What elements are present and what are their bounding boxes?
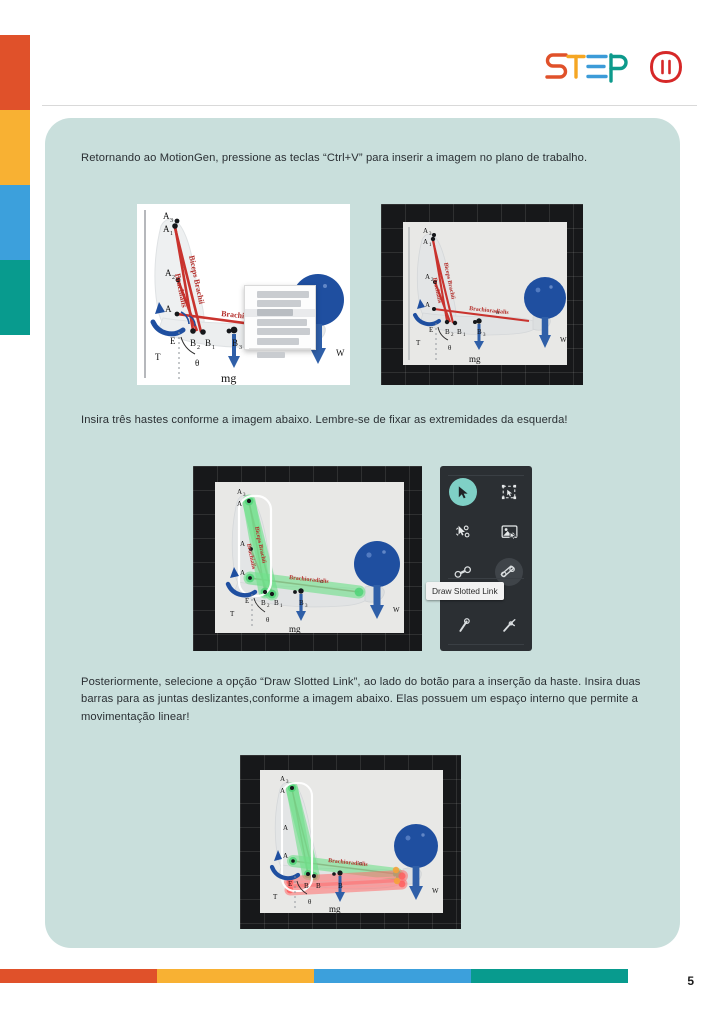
svg-text:A: A <box>280 775 285 783</box>
svg-text:θ: θ <box>448 344 452 352</box>
svg-text:A: A <box>283 852 288 860</box>
svg-text:θ: θ <box>308 898 312 906</box>
document-page: Retornando ao MotionGen, pressione as te… <box>0 0 725 1024</box>
svg-text:mg: mg <box>289 624 301 633</box>
svg-text:B: B <box>299 599 304 607</box>
select-tool-button[interactable] <box>449 478 477 506</box>
footer-segment-yellow <box>157 969 314 983</box>
context-menu-item-lens[interactable] <box>257 338 299 345</box>
svg-text:A: A <box>163 224 170 234</box>
svg-text:2: 2 <box>197 345 200 351</box>
step-logo <box>544 48 683 86</box>
svg-text:θ: θ <box>195 358 199 368</box>
svg-text:A: A <box>280 787 285 795</box>
footer-color-bars <box>0 969 628 983</box>
toolbar-divider-top <box>448 475 524 476</box>
svg-text:A: A <box>240 540 245 548</box>
svg-text:A: A <box>425 273 430 281</box>
rail-segment-yellow <box>0 110 30 185</box>
browser-context-menu[interactable] <box>244 285 316 350</box>
context-menu-item-highlighted[interactable] <box>245 309 315 317</box>
page-number: 5 <box>687 974 694 988</box>
svg-text:W: W <box>560 336 567 344</box>
rail-segment-teal <box>0 260 30 335</box>
toolbar-divider-bottom <box>448 644 524 645</box>
left-color-rail <box>0 35 30 335</box>
svg-text:A: A <box>283 824 288 832</box>
figure-original-image-with-context-menu: A3 A1 A2 A E B2 B1 B3 T θ mg W α <box>137 204 350 385</box>
slider-joint-tool-button[interactable] <box>495 612 523 640</box>
footer-segment-blue <box>314 969 471 983</box>
pasted-image-plane[interactable]: A3 A A A E B B B T θ mg W α <box>260 770 443 913</box>
svg-text:B: B <box>338 882 343 890</box>
svg-text:W: W <box>336 348 345 358</box>
svg-text:A: A <box>240 569 245 577</box>
svg-text:3: 3 <box>170 218 173 224</box>
step-wordmark <box>544 48 640 86</box>
svg-text:B: B <box>274 599 279 607</box>
toolbar-divider-middle <box>448 578 524 579</box>
svg-text:θ: θ <box>266 616 270 624</box>
svg-text:W: W <box>393 606 400 614</box>
svg-text:A: A <box>425 301 430 309</box>
svg-text:A: A <box>423 227 428 235</box>
svg-text:T: T <box>273 893 278 901</box>
svg-text:E: E <box>429 326 433 334</box>
svg-text:A: A <box>237 500 242 508</box>
svg-text:3: 3 <box>239 345 242 351</box>
svg-text:1: 1 <box>170 231 173 237</box>
arm-biomechanics-diagram-with-slotted-links: A3 A A A E B B B T θ mg W α <box>260 770 443 913</box>
svg-text:E: E <box>288 880 292 888</box>
arm-biomechanics-diagram: A3 A1 A2 A E B2 B1 B3 T θ mg W α <box>403 222 567 365</box>
context-menu-item[interactable] <box>257 328 310 335</box>
svg-text:B: B <box>445 328 450 336</box>
footer-segment-orange <box>0 969 157 983</box>
svg-text:B: B <box>205 338 211 348</box>
pasted-image-plane[interactable]: A3 A1 A2 A E B2 B1 B3 T θ mg W α <box>403 222 567 365</box>
pasted-image-plane[interactable]: A3 A A A E B2 B1 B3 T θ mg W α <box>215 482 404 633</box>
svg-text:A: A <box>163 211 170 221</box>
svg-text:B: B <box>190 338 196 348</box>
instruction-paragraph-2: Insira três hastes conforme a imagem aba… <box>81 412 643 429</box>
draw-slotted-link-tooltip: Draw Slotted Link <box>426 582 504 600</box>
rail-segment-orange <box>0 35 30 110</box>
svg-text:B: B <box>477 328 482 336</box>
svg-text:W: W <box>432 887 439 895</box>
context-menu-item[interactable] <box>257 291 309 298</box>
svg-text:E: E <box>245 597 249 605</box>
svg-text:1: 1 <box>212 345 215 351</box>
svg-text:mg: mg <box>329 904 341 913</box>
marquee-select-tool-button[interactable] <box>495 478 523 506</box>
pin-joint-tool-button[interactable] <box>449 612 477 640</box>
svg-text:A: A <box>237 488 242 496</box>
insert-image-tool-button[interactable] <box>495 518 523 546</box>
rail-segment-blue <box>0 185 30 260</box>
multi-select-tool-button[interactable] <box>449 518 477 546</box>
context-menu-item-inspect[interactable] <box>257 352 285 358</box>
toolbar-bottom-row <box>440 612 532 640</box>
header-divider <box>42 105 697 106</box>
figure-pasted-into-motiongen: A3 A1 A2 A E B2 B1 B3 T θ mg W α <box>381 204 583 385</box>
footer-segment-teal <box>471 969 628 983</box>
figure-three-links-drawn: A3 A A A E B2 B1 B3 T θ mg W α <box>193 466 422 651</box>
svg-text:B: B <box>261 599 266 607</box>
svg-text:E: E <box>170 336 176 346</box>
svg-text:A: A <box>165 268 172 278</box>
svg-text:mg: mg <box>469 354 481 364</box>
svg-text:mg: mg <box>221 371 236 385</box>
svg-text:B: B <box>232 338 238 348</box>
content-card: Retornando ao MotionGen, pressione as te… <box>45 118 680 948</box>
svg-text:T: T <box>416 339 421 347</box>
figure-slotted-links-added: A3 A A A E B B B T θ mg W α <box>240 755 461 929</box>
svg-text:B: B <box>457 328 462 336</box>
svg-text:B: B <box>304 882 309 890</box>
svg-text:B: B <box>316 882 321 890</box>
arm-biomechanics-diagram-with-green-links: A3 A A A E B2 B1 B3 T θ mg W α <box>215 482 404 633</box>
motiongen-tool-panel[interactable]: Draw Slotted Link <box>440 466 532 651</box>
context-menu-divider <box>249 348 311 349</box>
svg-text:T: T <box>155 352 161 362</box>
svg-text:2: 2 <box>451 333 454 338</box>
svg-text:T: T <box>230 610 235 618</box>
context-menu-item[interactable] <box>257 319 307 326</box>
svg-text:2: 2 <box>267 604 270 609</box>
toolbar-button-grid <box>440 478 532 586</box>
svg-text:A: A <box>165 304 172 314</box>
instruction-paragraph-3: Posteriormente, selecione a opção “Draw … <box>81 674 643 726</box>
step-mark-icon <box>649 50 683 84</box>
instruction-paragraph-1: Retornando ao MotionGen, pressione as te… <box>81 150 643 167</box>
svg-text:A: A <box>423 238 428 246</box>
context-menu-item[interactable] <box>257 300 301 307</box>
